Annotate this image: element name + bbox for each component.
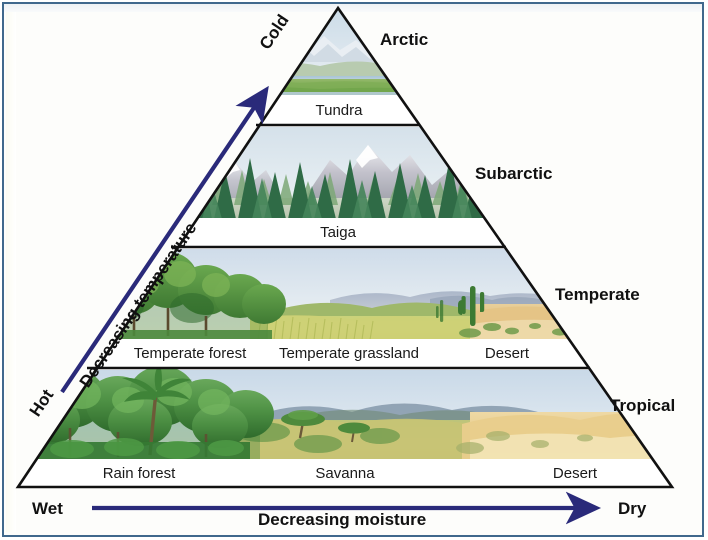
pyramid-graphic [0, 0, 708, 540]
biome-label-taiga: Taiga [288, 225, 388, 240]
scene-tundra [0, 8, 708, 96]
moisture-axis-title: Decreasing moisture [258, 511, 426, 528]
moisture-axis-wet-label: Wet [32, 500, 63, 517]
zone-label-tropical: Tropical [610, 397, 675, 414]
biome-label-temperate-forest: Temperate forest [120, 346, 260, 361]
biome-label-tropical-desert: Desert [530, 466, 620, 481]
biome-label-savanna: Savanna [290, 466, 400, 481]
biome-label-tundra: Tundra [284, 103, 394, 118]
biome-label-temperate-grassland: Temperate grassland [264, 346, 434, 361]
biome-label-rain-forest: Rain forest [74, 466, 204, 481]
biome-pyramid-figure: Tundra Taiga Temperate forest Temperate … [0, 0, 708, 540]
biome-label-temperate-desert: Desert [462, 346, 552, 361]
pyramid-scene-artwork [0, 0, 708, 540]
moisture-axis-dry-label: Dry [618, 500, 646, 517]
scene-tropical [0, 364, 708, 460]
scene-taiga [0, 127, 708, 219]
zone-label-subarctic: Subarctic [475, 165, 552, 182]
zone-label-temperate: Temperate [555, 286, 640, 303]
zone-label-arctic: Arctic [380, 31, 428, 48]
